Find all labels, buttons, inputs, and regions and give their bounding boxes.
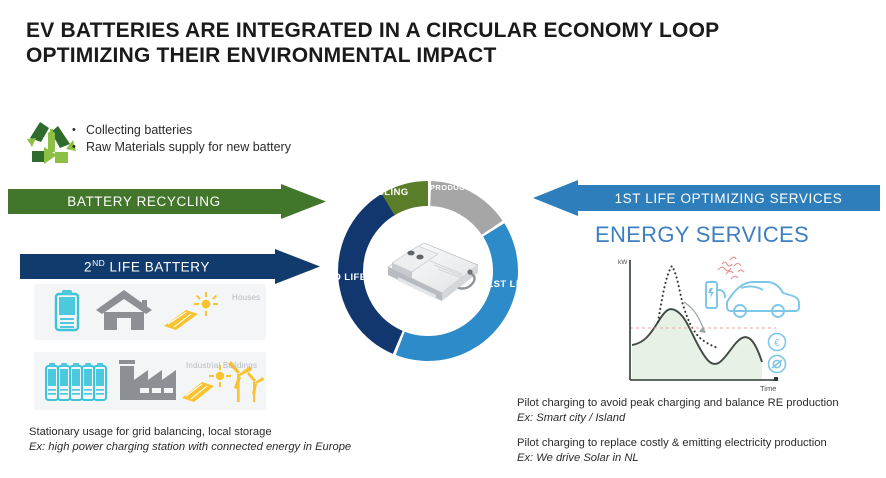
list-item: • Raw Materials supply for new battery (72, 139, 297, 156)
battery-icon (56, 290, 78, 330)
ev-car-charging-icon (706, 282, 799, 317)
pilot-note-line: Pilot charging to avoid peak charging an… (517, 396, 882, 411)
second-life-battery-arrow[interactable]: 2ND LIFE BATTERY (20, 249, 320, 284)
emission-scribble-icon (718, 257, 744, 279)
energy-services-heading: ENERGY SERVICES (595, 222, 809, 248)
stationary-usage-note: Stationary usage for grid balancing, loc… (29, 425, 429, 455)
bolt-icon (708, 288, 714, 298)
card-caption-industrial-buildings: Industrial Buildings (186, 361, 257, 370)
bullet-text: Raw Materials supply for new battery (86, 139, 297, 156)
pilot-note: Pilot charging to avoid peak charging an… (517, 396, 882, 425)
chart-y-axis-label: kW (618, 259, 628, 266)
pilot-note-example: Ex: We drive Solar in NL (517, 451, 882, 466)
pilot-note-line: Pilot charging to replace costly & emitt… (517, 436, 882, 451)
list-item: • Collecting batteries (72, 122, 297, 139)
bullet-icon: • (72, 122, 86, 139)
battery-recycling-arrow[interactable]: BATTERY RECYCLING (8, 184, 326, 219)
card-caption-houses: Houses (232, 293, 260, 302)
bullet-text: Collecting batteries (86, 122, 297, 139)
donut-label-production: PRODUCTION (430, 183, 484, 192)
house-icon (96, 290, 152, 330)
donut-label-recycling: RECYCLING (349, 187, 409, 198)
battery-stack-icon (46, 363, 106, 400)
first-life-optimizing-services-arrow[interactable]: 1ST LIFE OPTIMIZING SERVICES (533, 180, 880, 216)
pilot-note-example: Ex: Smart city / Island (517, 411, 882, 426)
bullet-icon: • (72, 139, 86, 156)
recycling-bullet-list: • Collecting batteries • Raw Materials s… (72, 122, 297, 155)
svg-text:€: € (774, 338, 780, 349)
page-title: EV BATTERIES ARE INTEGRATED IN A CIRCULA… (26, 18, 826, 68)
pilot-charging-notes: Pilot charging to avoid peak charging an… (517, 396, 882, 465)
energy-services-chart: € kW Time (600, 250, 800, 395)
second-life-battery-arrow-label: 2ND LIFE BATTERY (84, 258, 256, 275)
stationary-usage-line: Stationary usage for grid balancing, loc… (29, 425, 429, 440)
chart-x-axis-label: Time (760, 384, 776, 393)
pilot-note: Pilot charging to replace costly & emitt… (517, 436, 882, 465)
battery-recycling-arrow-label: BATTERY RECYCLING (67, 194, 267, 209)
ev-battery-pack-icon (378, 233, 488, 311)
factory-icon (119, 360, 176, 400)
first-life-optimizing-services-arrow-label: 1ST LIFE OPTIMIZING SERVICES (571, 191, 843, 206)
co2-icon (769, 356, 786, 373)
stationary-usage-example: Ex: high power charging station with con… (29, 440, 429, 455)
donut-label-second-life: 2ND LIFE (321, 272, 366, 283)
solar-panel-sun-icon (164, 292, 218, 330)
donut-label-first-life: 1ST LIFE (488, 279, 532, 290)
